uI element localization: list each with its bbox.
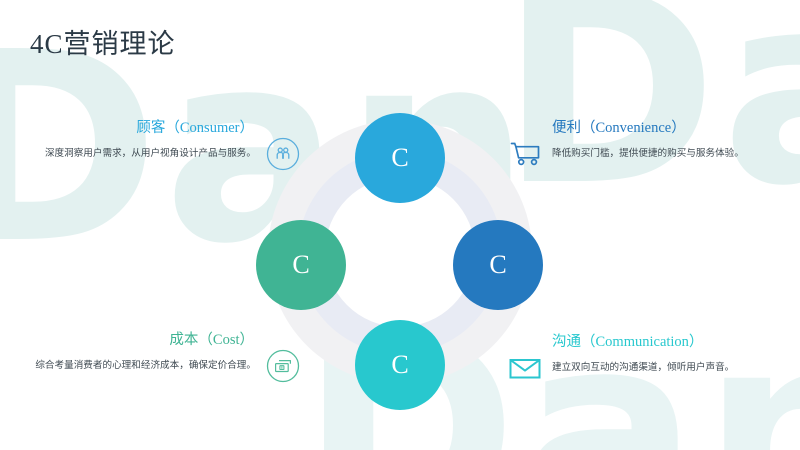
item-heading: 便利（Convenience） [508,116,778,137]
center-circle-letter: C [292,252,309,278]
users-icon [266,137,300,171]
money-icon [266,349,300,383]
center-circle-cost[interactable]: C [256,220,346,310]
item-description: 降低购买门槛，提供便捷的购买与服务体验。 [552,146,744,163]
item-heading: 顾客（Consumer） [30,116,300,137]
shopping-cart-icon [508,137,542,171]
center-circle-consumer[interactable]: C [355,113,445,203]
item-heading: 成本（Cost） [30,328,300,349]
item-communication[interactable]: 沟通（Communication） 建立双向互动的沟通渠道，倾听用户声音。 [508,330,778,385]
center-circle-letter: C [391,145,408,171]
item-description: 深度洞察用户需求，从用户视角设计产品与服务。 [45,146,256,163]
item-cost[interactable]: 成本（Cost） 综合考量消费者的心理和经济成本，确保定价合理。 [30,328,300,383]
item-description: 综合考量消费者的心理和经济成本，确保定价合理。 [35,358,256,375]
center-circle-letter: C [391,352,408,378]
envelope-icon [508,351,542,385]
page-title: 4C营销理论 [30,22,176,61]
center-circle-communication[interactable]: C [355,320,445,410]
item-heading: 沟通（Communication） [508,330,778,351]
item-consumer[interactable]: 顾客（Consumer） 深度洞察用户需求，从用户视角设计产品与服务。 [30,116,300,171]
slide-canvas: Dan Dan Dan 4C营销理论 C C C C 顾客（Consumer） … [0,0,800,450]
center-circle-convenience[interactable]: C [453,220,543,310]
watermark-text: Dan [500,0,800,222]
item-convenience[interactable]: 便利（Convenience） 降低购买门槛，提供便捷的购买与服务体验。 [508,116,778,171]
center-circle-letter: C [489,252,506,278]
item-description: 建立双向互动的沟通渠道，倾听用户声音。 [552,360,734,377]
